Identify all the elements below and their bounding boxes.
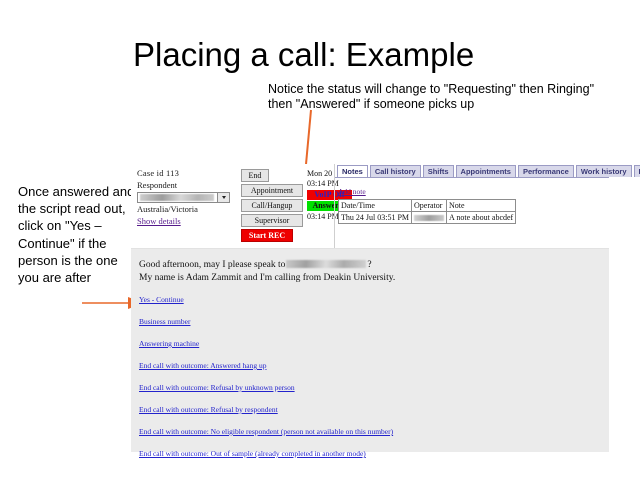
link-business-number[interactable]: Business number [139, 317, 609, 326]
end-button[interactable]: End [241, 169, 269, 182]
column-header-note: Note [447, 200, 516, 212]
link-outcome-out-of-sample[interactable]: End call with outcome: Out of sample (al… [139, 449, 609, 458]
tab-performance[interactable]: Performance [518, 165, 574, 177]
tab-notes[interactable]: Notes [337, 165, 368, 177]
case-info-block: Case id 113 Respondent Australia/Victori… [137, 168, 242, 227]
link-answering-machine[interactable]: Answering machine [139, 339, 609, 348]
add-note-link[interactable]: Add note [338, 187, 366, 196]
script-line-2: My name is Adam Zammit and I'm calling f… [139, 272, 609, 285]
call-hangup-button[interactable]: Call/Hangup [241, 199, 303, 212]
script-panel: Good afternoon, may I please speak to? M… [131, 249, 609, 452]
tab-info[interactable]: Info [634, 165, 640, 177]
show-details-link[interactable]: Show details [137, 216, 181, 227]
respondent-value-redacted [140, 194, 214, 201]
app-header-area: Case id 113 Respondent Australia/Victori… [131, 164, 609, 249]
notes-panel: Add note Date/Time Operator Note Thu 24 … [335, 178, 609, 224]
respondent-label: Respondent [137, 180, 242, 191]
cell-note: A note about abcdef [447, 212, 516, 224]
link-outcome-answered-hang-up[interactable]: End call with outcome: Answered hang up [139, 361, 609, 370]
case-id-label: Case id 113 [137, 168, 242, 179]
column-header-operator: Operator [412, 200, 447, 212]
script-greeting-text: Good afternoon, may I please speak to [139, 260, 285, 270]
respondent-name-redacted [286, 260, 366, 268]
link-outcome-refusal-unknown-person[interactable]: End call with outcome: Refusal by unknow… [139, 383, 609, 392]
operator-redacted [414, 215, 444, 221]
page-title: Placing a call: Example [133, 36, 474, 74]
appointment-button[interactable]: Appointment [241, 184, 303, 197]
outcome-link-list: Yes - Continue Business number Answering… [139, 295, 609, 458]
chevron-down-icon[interactable] [217, 193, 229, 202]
cell-datetime: Thu 24 Jul 03:51 PM [339, 212, 412, 224]
tab-bar: Notes Call history Shifts Appointments P… [335, 164, 609, 178]
tab-call-history[interactable]: Call history [370, 165, 421, 177]
table-header-row: Date/Time Operator Note [339, 200, 516, 212]
table-row[interactable]: Thu 24 Jul 03:51 PM A note about abcdef [339, 212, 516, 224]
tab-work-history[interactable]: Work history [576, 165, 632, 177]
link-outcome-no-eligible-respondent[interactable]: End call with outcome: No eligible respo… [139, 427, 609, 436]
timezone-label: Australia/Victoria [137, 204, 242, 215]
callout-yes-continue-note: Once answered and the script read out, c… [18, 183, 138, 286]
slide: Placing a call: Example Notice the statu… [0, 0, 640, 480]
call-controls: End Appointment Call/Hangup Supervisor S… [241, 169, 303, 244]
supervisor-button[interactable]: Supervisor [241, 214, 303, 227]
link-yes-continue[interactable]: Yes - Continue [139, 295, 609, 304]
embedded-app-screenshot: Case id 113 Respondent Australia/Victori… [131, 164, 609, 452]
notes-table: Date/Time Operator Note Thu 24 Jul 03:51… [338, 199, 516, 224]
respondent-select[interactable] [137, 192, 230, 203]
tab-shifts[interactable]: Shifts [423, 165, 454, 177]
start-rec-button[interactable]: Start REC [241, 229, 293, 242]
link-outcome-refusal-respondent[interactable]: End call with outcome: Refusal by respon… [139, 405, 609, 414]
tab-appointments[interactable]: Appointments [456, 165, 516, 177]
tab-panel: Notes Call history Shifts Appointments P… [334, 164, 609, 248]
script-question-mark: ? [367, 260, 371, 270]
cell-operator [412, 212, 447, 224]
script-line-1: Good afternoon, may I please speak to? [139, 259, 609, 272]
column-header-datetime: Date/Time [339, 200, 412, 212]
